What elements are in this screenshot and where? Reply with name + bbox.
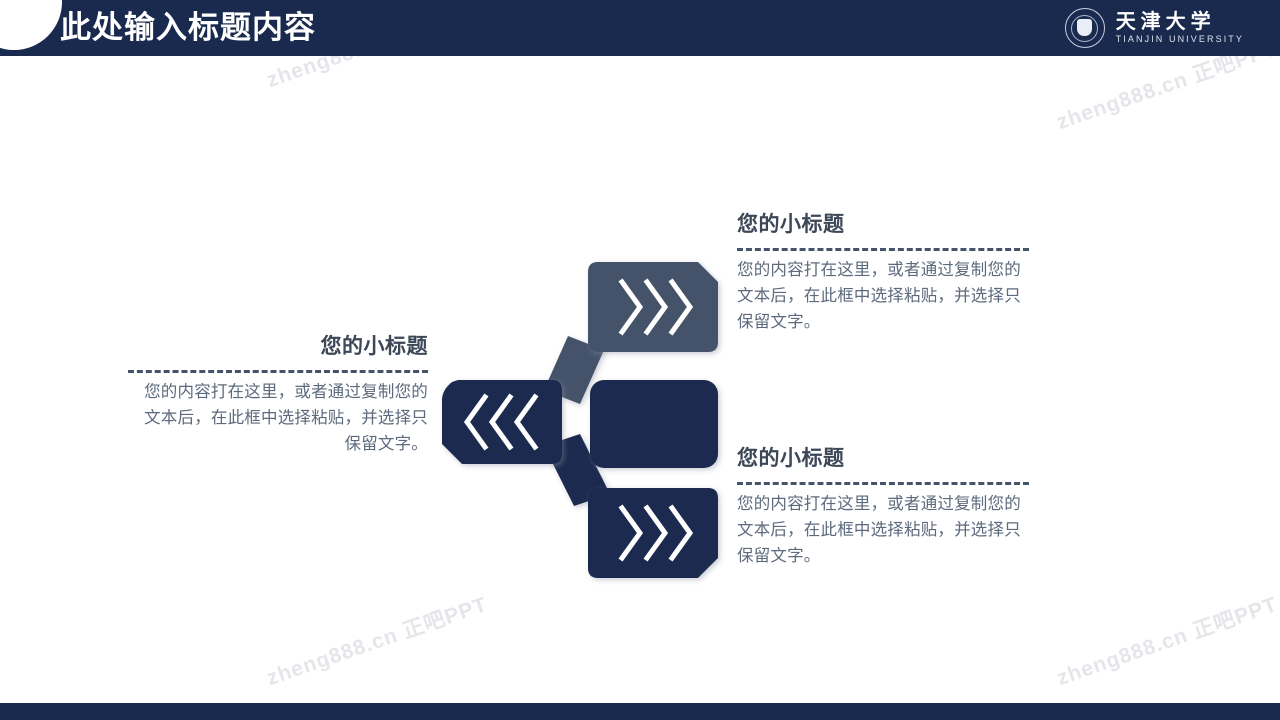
text-block-left-divider [128, 370, 428, 373]
text-block-left: 您的小标题 您的内容打在这里，或者通过复制您的文本后，在此框中选择粘贴，并选择只… [128, 332, 428, 457]
text-block-bottom-right-heading: 您的小标题 [737, 444, 1029, 474]
diagram-node-left[interactable] [442, 380, 562, 464]
watermark: zheng888.cn 正吧PPT [262, 588, 491, 692]
logo-name-en: TIANJIN UNIVERSITY [1116, 33, 1244, 46]
text-block-top-right-body: 您的内容打在这里，或者通过复制您的文本后，在此框中选择粘贴，并选择只保留文字。 [737, 257, 1029, 335]
footer-bar [0, 703, 1280, 720]
diagram-node-bottom[interactable] [588, 488, 718, 578]
text-block-top-right: 您的小标题 您的内容打在这里，或者通过复制您的文本后，在此框中选择粘贴，并选择只… [737, 210, 1029, 335]
page-title: 此处输入标题内容 [60, 4, 316, 52]
watermark: zheng888.cn 正吧PPT [1052, 588, 1280, 692]
text-block-bottom-right: 您的小标题 您的内容打在这里，或者通过复制您的文本后，在此框中选择粘贴，并选择只… [737, 444, 1029, 569]
tianjin-university-emblem-icon [1065, 8, 1105, 48]
text-block-top-right-heading: 您的小标题 [737, 210, 1029, 240]
university-logo: 天津大学 TIANJIN UNIVERSITY [1065, 5, 1244, 51]
text-block-bottom-right-divider [737, 482, 1029, 485]
text-block-top-right-divider [737, 248, 1029, 251]
logo-name-cn: 天津大学 [1116, 10, 1244, 33]
text-block-left-body: 您的内容打在这里，或者通过复制您的文本后，在此框中选择粘贴，并选择只保留文字。 [128, 379, 428, 457]
slide-canvas: 此处输入标题内容 天津大学 TIANJIN UNIVERSITY [0, 0, 1280, 720]
process-flow-diagram [440, 250, 740, 590]
diagram-node-center[interactable] [590, 380, 718, 468]
text-block-left-heading: 您的小标题 [128, 332, 428, 362]
logo-text: 天津大学 TIANJIN UNIVERSITY [1116, 10, 1244, 46]
diagram-node-top[interactable] [588, 262, 718, 352]
text-block-bottom-right-body: 您的内容打在这里，或者通过复制您的文本后，在此框中选择粘贴，并选择只保留文字。 [737, 491, 1029, 569]
